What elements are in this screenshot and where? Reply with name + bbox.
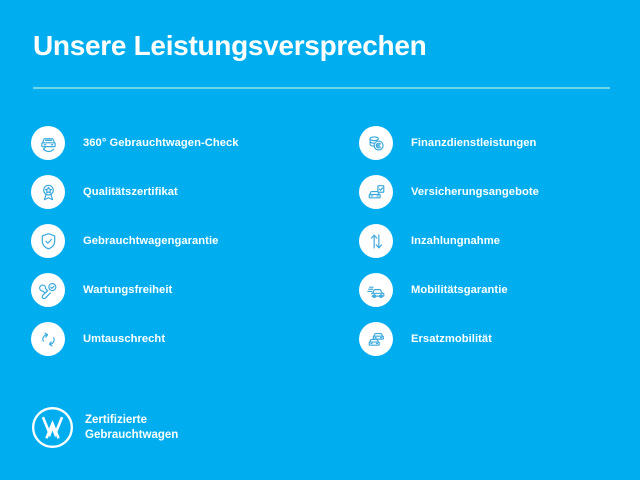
feature-column-left: 360° Gebrauchtwagen-Check Qualitätszerti… bbox=[31, 126, 321, 371]
list-item-label: Qualitätszertifikat bbox=[83, 175, 178, 209]
wrench-check-icon bbox=[31, 273, 65, 307]
list-item[interactable]: 360° Gebrauchtwagen-Check bbox=[31, 126, 321, 175]
list-item-label: Umtauschrecht bbox=[83, 322, 165, 356]
list-item-label: Mobilitätsgarantie bbox=[411, 273, 508, 307]
list-item-label: Ersatzmobilität bbox=[411, 322, 492, 356]
arrows-up-down-icon bbox=[359, 224, 393, 258]
list-item[interactable]: Wartungsfreiheit bbox=[31, 273, 321, 322]
brand-lockup: Zertifizierte Gebrauchtwagen bbox=[31, 406, 178, 449]
list-item[interactable]: Qualitätszertifikat bbox=[31, 175, 321, 224]
brand-text-line2: Gebrauchtwagen bbox=[85, 429, 178, 441]
volkswagen-logo-icon bbox=[31, 406, 74, 449]
page-title: Unsere Leistungsversprechen bbox=[33, 30, 426, 62]
list-item-label: Gebrauchtwagengarantie bbox=[83, 224, 218, 258]
slide-canvas: Unsere Leistungsversprechen 360° Gebrauc… bbox=[0, 0, 640, 480]
two-cars-icon bbox=[359, 322, 393, 356]
car-motion-icon bbox=[359, 273, 393, 307]
car-360-check-icon bbox=[31, 126, 65, 160]
coins-euro-icon bbox=[359, 126, 393, 160]
shield-check-icon bbox=[31, 224, 65, 258]
list-item-label: 360° Gebrauchtwagen-Check bbox=[83, 126, 239, 160]
list-item[interactable]: Inzahlungnahme bbox=[359, 224, 640, 273]
brand-text: Zertifizierte Gebrauchtwagen bbox=[85, 413, 178, 442]
brand-text-line1: Zertifizierte bbox=[85, 414, 147, 426]
list-item-label: Finanzdienstleistungen bbox=[411, 126, 536, 160]
list-item[interactable]: Umtauschrecht bbox=[31, 322, 321, 371]
list-item[interactable]: Finanzdienstleistungen bbox=[359, 126, 640, 175]
feature-column-right: Finanzdienstleistungen Versicherungsange… bbox=[359, 126, 640, 371]
header-divider bbox=[33, 87, 610, 89]
list-item-label: Inzahlungnahme bbox=[411, 224, 500, 258]
list-item[interactable]: Versicherungsangebote bbox=[359, 175, 640, 224]
exchange-arrows-icon bbox=[31, 322, 65, 356]
list-item[interactable]: Ersatzmobilität bbox=[359, 322, 640, 371]
car-document-check-icon bbox=[359, 175, 393, 209]
award-rosette-icon bbox=[31, 175, 65, 209]
list-item[interactable]: Gebrauchtwagengarantie bbox=[31, 224, 321, 273]
list-item-label: Wartungsfreiheit bbox=[83, 273, 172, 307]
list-item[interactable]: Mobilitätsgarantie bbox=[359, 273, 640, 322]
list-item-label: Versicherungsangebote bbox=[411, 175, 539, 209]
